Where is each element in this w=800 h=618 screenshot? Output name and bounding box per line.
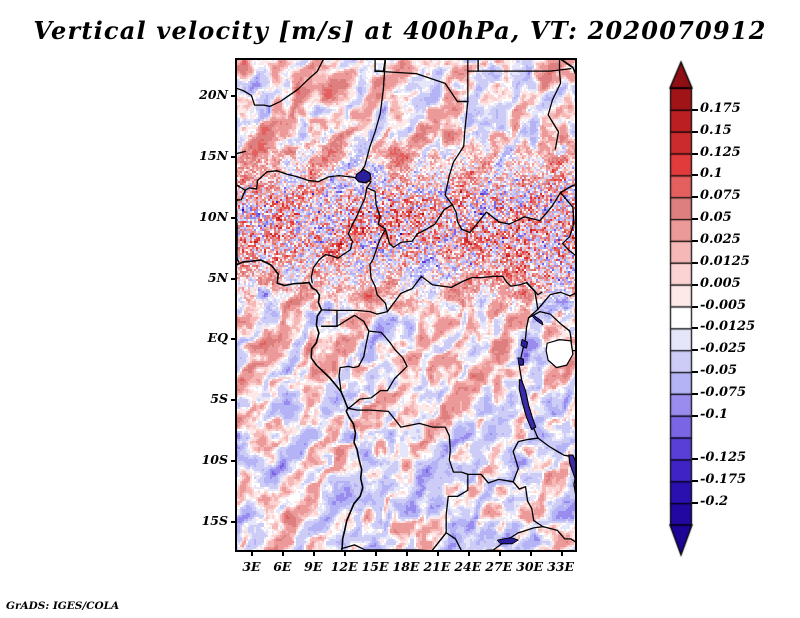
colorbar-tick-mark bbox=[692, 218, 698, 220]
lon-tick-mark bbox=[344, 551, 346, 556]
colorbar-tick-label: -0.005 bbox=[700, 298, 746, 313]
colorbar-tick-mark bbox=[692, 174, 698, 176]
colorbar-tick-label: -0.1 bbox=[700, 407, 728, 422]
map-plot-area bbox=[236, 59, 576, 551]
lon-tick-mark bbox=[282, 551, 284, 556]
colorbar-tick-mark bbox=[692, 458, 698, 460]
lat-tick-label: 15N bbox=[178, 148, 228, 163]
colorbar-tick-mark bbox=[692, 196, 698, 198]
map-overlay-coastlines bbox=[236, 59, 576, 551]
colorbar-tick-label: -0.175 bbox=[700, 472, 746, 487]
lat-tick-mark bbox=[231, 338, 236, 340]
lon-tick-mark bbox=[251, 551, 253, 556]
colorbar-tick-label: 0.15 bbox=[700, 123, 732, 138]
lat-tick-mark bbox=[231, 399, 236, 401]
lat-tick-mark bbox=[231, 278, 236, 280]
lat-tick-label: 5S bbox=[178, 391, 228, 406]
colorbar-tick-mark bbox=[692, 415, 698, 417]
attribution-footer: GrADS: IGES/COLA bbox=[6, 600, 119, 612]
colorbar-tick-mark bbox=[692, 393, 698, 395]
colorbar-tick-label: -0.125 bbox=[700, 450, 746, 465]
colorbar-tick-label: -0.05 bbox=[700, 363, 737, 378]
colorbar-tick-label: 0.1 bbox=[700, 166, 723, 181]
lat-tick-label: 20N bbox=[178, 87, 228, 102]
colorbar-tick-label: 0.025 bbox=[700, 232, 741, 247]
lat-tick-label: EQ bbox=[178, 330, 228, 345]
lon-tick-label: 33E bbox=[539, 559, 583, 574]
lon-tick-mark bbox=[561, 551, 563, 556]
colorbar-swatches bbox=[664, 58, 704, 562]
colorbar-tick-label: 0.05 bbox=[700, 210, 732, 225]
lon-tick-mark bbox=[375, 551, 377, 556]
colorbar-tick-label: 0.005 bbox=[700, 276, 741, 291]
lon-tick-mark bbox=[406, 551, 408, 556]
lon-tick-mark bbox=[437, 551, 439, 556]
colorbar-tick-mark bbox=[692, 327, 698, 329]
lat-tick-label: 10S bbox=[178, 452, 228, 467]
colorbar: 0.1750.150.1250.10.0750.050.0250.01250.0… bbox=[664, 58, 800, 562]
lat-tick-mark bbox=[231, 521, 236, 523]
colorbar-tick-label: -0.025 bbox=[700, 341, 746, 356]
lat-tick-label: 15S bbox=[178, 513, 228, 528]
colorbar-tick-mark bbox=[692, 502, 698, 504]
lat-tick-mark bbox=[231, 460, 236, 462]
colorbar-tick-label: -0.075 bbox=[700, 385, 746, 400]
colorbar-tick-mark bbox=[692, 109, 698, 111]
lon-tick-mark bbox=[468, 551, 470, 556]
colorbar-tick-label: 0.0125 bbox=[700, 254, 750, 269]
colorbar-tick-mark bbox=[692, 131, 698, 133]
colorbar-tick-mark bbox=[692, 306, 698, 308]
colorbar-tick-label: 0.075 bbox=[700, 188, 741, 203]
colorbar-tick-mark bbox=[692, 153, 698, 155]
lat-tick-label: 10N bbox=[178, 209, 228, 224]
lon-tick-mark bbox=[313, 551, 315, 556]
colorbar-tick-mark bbox=[692, 480, 698, 482]
lon-tick-mark bbox=[499, 551, 501, 556]
lat-tick-mark bbox=[231, 217, 236, 219]
lat-tick-mark bbox=[231, 95, 236, 97]
page-title: Vertical velocity [m/s] at 400hPa, VT: 2… bbox=[0, 16, 800, 45]
colorbar-tick-label: -0.0125 bbox=[700, 319, 755, 334]
colorbar-tick-label: 0.125 bbox=[700, 145, 741, 160]
colorbar-tick-mark bbox=[692, 262, 698, 264]
lat-tick-mark bbox=[231, 156, 236, 158]
lat-tick-label: 5N bbox=[178, 270, 228, 285]
colorbar-tick-label: -0.2 bbox=[700, 494, 728, 509]
colorbar-tick-mark bbox=[692, 349, 698, 351]
lon-tick-mark bbox=[530, 551, 532, 556]
colorbar-tick-mark bbox=[692, 371, 698, 373]
colorbar-tick-label: 0.175 bbox=[700, 101, 741, 116]
colorbar-tick-mark bbox=[692, 284, 698, 286]
colorbar-tick-mark bbox=[692, 240, 698, 242]
